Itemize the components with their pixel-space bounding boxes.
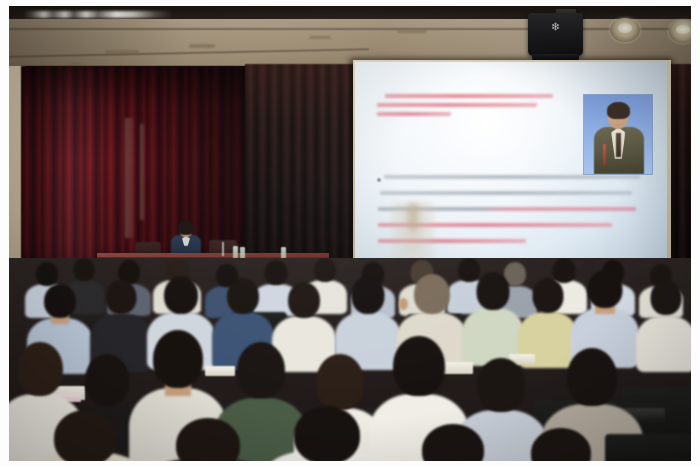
ceiling-vent-slot bbox=[309, 36, 331, 39]
downlight-lens bbox=[618, 23, 632, 33]
person-head bbox=[588, 270, 623, 308]
stage-door-gap bbox=[140, 124, 145, 220]
ceiling-vent-slot bbox=[105, 50, 139, 54]
person-head bbox=[164, 276, 198, 314]
auditorium-chair[interactable] bbox=[605, 434, 691, 461]
person-head bbox=[85, 354, 129, 406]
person-head bbox=[531, 428, 591, 461]
ceiling-vent-slot bbox=[189, 44, 215, 48]
slide-portrait-photo bbox=[584, 95, 652, 174]
person-head bbox=[74, 258, 95, 281]
audience-member bbox=[639, 280, 691, 360]
audience-member bbox=[515, 428, 607, 461]
person-head bbox=[352, 276, 385, 314]
person-head bbox=[54, 410, 116, 461]
person-head bbox=[44, 284, 76, 318]
ceiling-vent-slot bbox=[397, 30, 427, 33]
conference-photograph: ❄ bbox=[9, 6, 691, 461]
ceiling-mounted-projector[interactable]: ❄ bbox=[528, 13, 583, 56]
recessed-downlight-2 bbox=[669, 20, 691, 43]
audience-member bbox=[37, 410, 133, 461]
person-head bbox=[533, 278, 564, 313]
audience-member bbox=[575, 270, 635, 358]
person-head bbox=[422, 424, 484, 461]
person-head-bald bbox=[414, 274, 450, 314]
snowflake-icon: ❄ bbox=[551, 22, 560, 33]
person-head bbox=[314, 258, 336, 282]
person-head bbox=[477, 272, 510, 310]
portrait-microphone bbox=[603, 144, 606, 165]
person-head bbox=[651, 280, 682, 315]
microphone bbox=[222, 242, 224, 256]
audience-member bbox=[405, 424, 501, 461]
stage-door-gap bbox=[125, 118, 134, 238]
downlight-lens bbox=[676, 25, 689, 35]
audience-member bbox=[159, 418, 257, 461]
person-torso bbox=[636, 316, 691, 372]
person-head bbox=[17, 342, 63, 396]
audience-member bbox=[521, 278, 575, 358]
person-head bbox=[227, 278, 259, 314]
person-ear bbox=[399, 298, 408, 310]
photo-white-border: ❄ bbox=[0, 0, 700, 467]
ceiling-light-strip bbox=[23, 11, 173, 18]
person-head bbox=[393, 336, 445, 396]
speaker-hair bbox=[178, 220, 194, 235]
recessed-downlight-1 bbox=[610, 18, 640, 42]
audience-member bbox=[277, 406, 377, 461]
person-head bbox=[316, 354, 364, 410]
portrait-tie bbox=[616, 133, 621, 157]
person-head bbox=[237, 342, 285, 398]
screenshot-root: ❄ bbox=[0, 0, 700, 467]
person-head bbox=[176, 418, 240, 461]
person-head bbox=[477, 358, 525, 412]
person-head bbox=[288, 282, 320, 318]
portrait-hair bbox=[607, 102, 629, 119]
person-head bbox=[153, 330, 203, 388]
ceiling-seam bbox=[9, 28, 691, 30]
audience-seating bbox=[9, 258, 691, 461]
person-head bbox=[36, 262, 58, 286]
audience-member bbox=[465, 272, 521, 356]
person-head bbox=[294, 406, 360, 461]
person-head bbox=[106, 280, 137, 314]
person-head bbox=[567, 348, 617, 406]
